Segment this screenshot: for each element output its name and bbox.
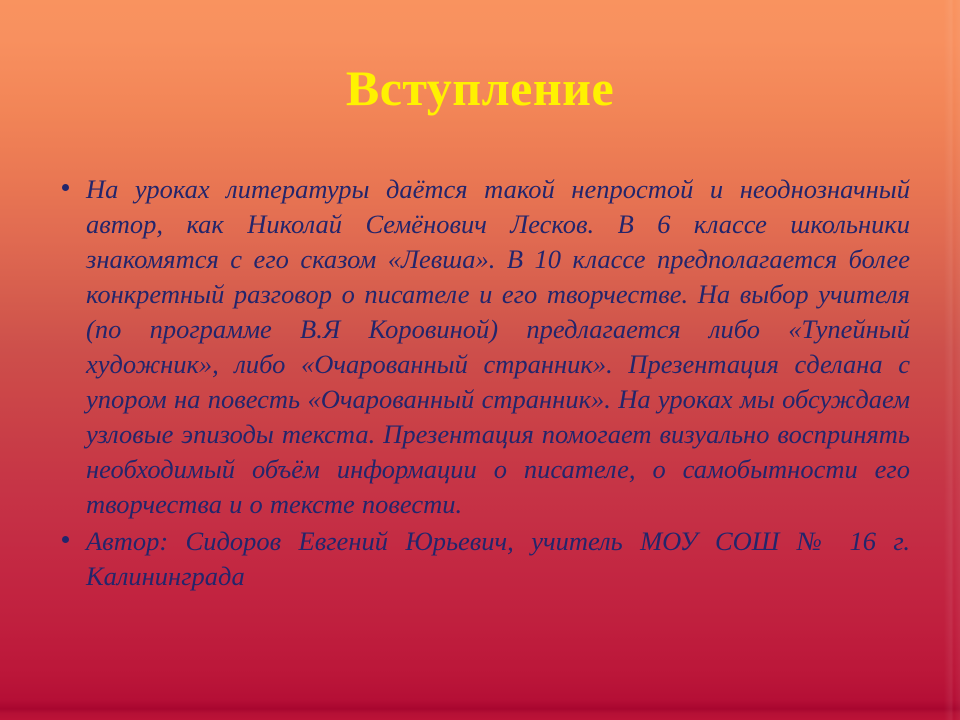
slide-title: Вступление — [0, 58, 960, 118]
bullet-paragraph-text: На уроках литературы даётся такой непрос… — [86, 172, 910, 522]
presentation-slide: Вступление На уроках литературы даётся т… — [0, 0, 960, 720]
bullet-paragraph-text: Автор: Сидоров Евгений Юрьевич, учитель … — [86, 524, 910, 594]
bullet-paragraph: Автор: Сидоров Евгений Юрьевич, учитель … — [86, 524, 910, 594]
bullet-item: На уроках литературы даётся такой непрос… — [52, 172, 910, 522]
bullet-paragraph: На уроках литературы даётся такой непрос… — [86, 172, 910, 522]
bullet-dot-icon — [62, 184, 69, 191]
slide-body: На уроках литературы даётся такой непрос… — [52, 172, 910, 596]
bullet-item: Автор: Сидоров Евгений Юрьевич, учитель … — [52, 524, 910, 594]
bullet-dot-icon — [62, 536, 69, 543]
bullet-marker — [52, 524, 86, 543]
bullet-marker — [52, 172, 86, 191]
